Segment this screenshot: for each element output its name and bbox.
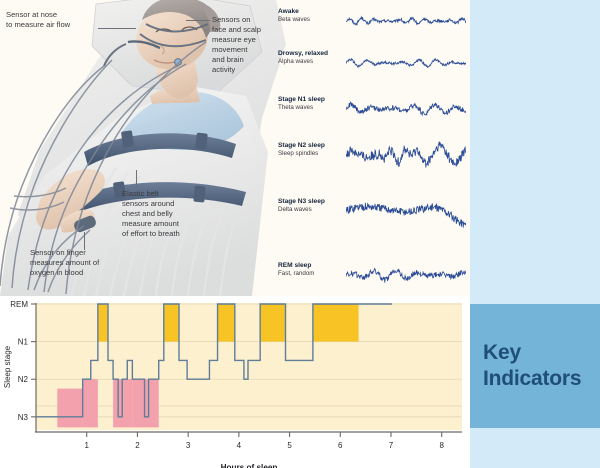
- leader-line-face: [186, 20, 210, 21]
- eeg-stage-subtitle: Sleep spindles: [278, 150, 344, 158]
- eeg-stage-title: REM sleep: [278, 262, 344, 270]
- y-tick-label: N3: [18, 413, 29, 422]
- eeg-stage-subtitle: Alpha waves: [278, 58, 344, 66]
- eeg-stage-label: REM sleepFast, random: [278, 262, 344, 278]
- annotation-finger-sensor: Sensor on finger measures amount of oxyg…: [30, 248, 130, 278]
- x-axis-title: Hours of sleep: [221, 463, 278, 468]
- eeg-trace: [346, 132, 466, 178]
- x-tick-label: 6: [338, 441, 343, 450]
- y-tick-label: N2: [18, 375, 29, 384]
- key-indicators-line2: Indicators: [483, 366, 600, 392]
- hypnogram-svg: REMN1N2N3Sleep stage12345678Hours of sle…: [0, 296, 470, 468]
- dreaming-block: [313, 304, 359, 342]
- eeg-stage-label: Stage N1 sleepTheta waves: [278, 96, 344, 112]
- deep-sleep-block: [132, 379, 158, 427]
- key-indicators-panel: Key Indicators: [470, 304, 600, 428]
- leader-line-belt: [136, 170, 137, 189]
- eeg-trace: [346, 188, 466, 234]
- x-tick-label: 8: [439, 441, 444, 450]
- annotation-nose-sensor: Sensor at nose to measure air flow: [6, 10, 102, 30]
- eeg-stage-title: Awake: [278, 8, 344, 16]
- key-indicators-line1: Key: [483, 340, 600, 366]
- eeg-stage-title: Stage N2 sleep: [278, 142, 344, 150]
- eeg-trace: [346, 86, 466, 132]
- eeg-stage-subtitle: Theta waves: [278, 104, 344, 112]
- deep-sleep-block: [57, 389, 82, 428]
- annotation-face-sensors: Sensors on face and scalp measure eye mo…: [212, 15, 282, 75]
- eeg-stage-subtitle: Delta waves: [278, 206, 344, 214]
- dreaming-block: [164, 304, 179, 342]
- eeg-trace: [346, 0, 466, 44]
- y-tick-label: REM: [10, 300, 28, 309]
- x-tick-label: 3: [186, 441, 191, 450]
- x-tick-label: 7: [389, 441, 394, 450]
- eeg-stage-label: AwakeBeta waves: [278, 8, 344, 24]
- x-tick-label: 5: [287, 441, 292, 450]
- eeg-stage-subtitle: Beta waves: [278, 16, 344, 24]
- eeg-stage-label: Stage N3 sleepDelta waves: [278, 198, 344, 214]
- dreaming-block: [260, 304, 285, 342]
- eeg-stage-title: Drowsy, relaxed: [278, 50, 344, 58]
- eeg-stage-label: Drowsy, relaxedAlpha waves: [278, 50, 344, 66]
- eeg-stage-title: Stage N3 sleep: [278, 198, 344, 206]
- x-tick-label: 4: [237, 441, 242, 450]
- dreaming-block: [98, 304, 108, 342]
- eeg-stage-label: Stage N2 sleepSleep spindles: [278, 142, 344, 158]
- eeg-trace: [346, 40, 466, 86]
- annotation-belt-sensors: Elastic belt sensors around chest and be…: [122, 189, 210, 239]
- infographic-page: Key Indicators: [0, 0, 600, 468]
- eeg-waveform-panel: AwakeBeta wavesDrowsy, relaxedAlpha wave…: [278, 0, 470, 296]
- eeg-stage-subtitle: Fast, random: [278, 270, 344, 278]
- dreaming-block: [218, 304, 235, 342]
- x-tick-label: 1: [84, 441, 89, 450]
- hypnogram-chart: REMN1N2N3Sleep stage12345678Hours of sle…: [0, 296, 470, 468]
- y-tick-label: N1: [18, 338, 29, 347]
- x-tick-label: 2: [135, 441, 140, 450]
- deep-sleep-block: [83, 379, 98, 427]
- y-axis-title: Sleep stage: [3, 345, 12, 388]
- eeg-stage-title: Stage N1 sleep: [278, 96, 344, 104]
- eeg-trace: [346, 252, 466, 298]
- leader-line-nose: [98, 28, 136, 29]
